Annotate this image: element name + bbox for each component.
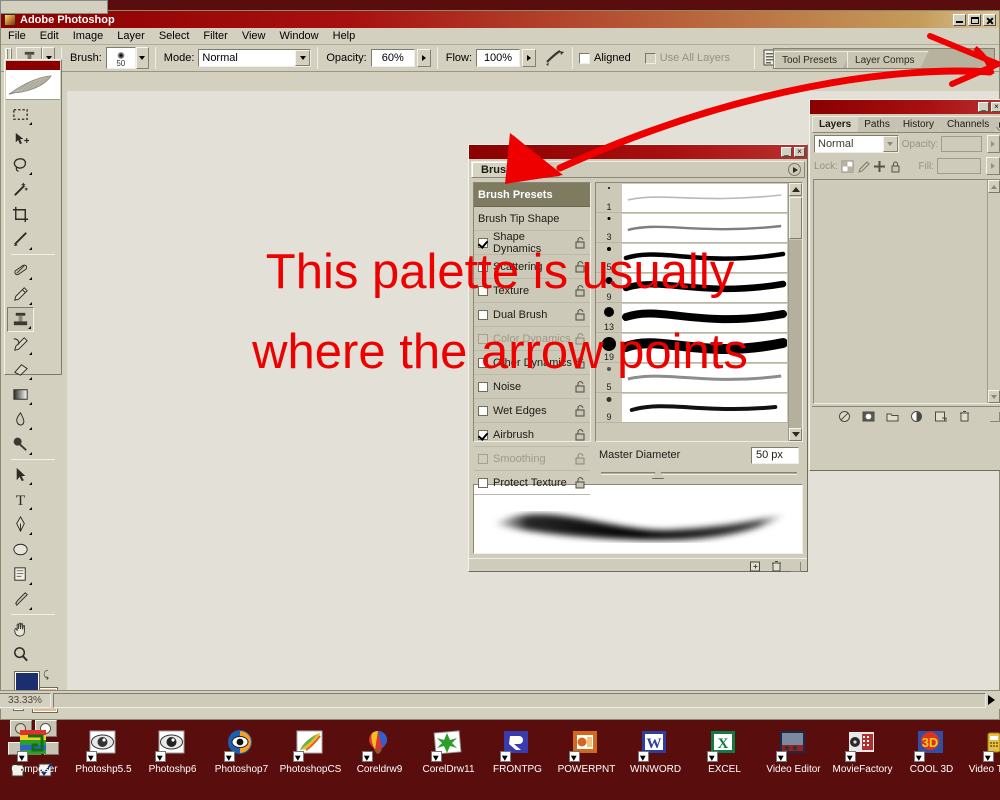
lock-open-icon[interactable]: [575, 261, 586, 273]
taskbar-label: MovieFactory: [832, 764, 892, 775]
master-diameter-slider[interactable]: [601, 468, 797, 480]
menu-view[interactable]: View: [235, 29, 273, 43]
brushes-tab-row: Brushes: [471, 161, 805, 178]
brushes-palette-window-controls: _ ×: [781, 147, 805, 157]
lock-closed-icon: [575, 453, 586, 465]
lock-position-icon[interactable]: [873, 160, 886, 173]
brush-stroke-preview: [622, 304, 787, 332]
chevron-down-icon: [295, 50, 310, 66]
cool3d-icon: 3D: [915, 728, 948, 761]
checkbox-icon[interactable]: [478, 406, 488, 416]
option-protect-texture[interactable]: Protect Texture: [474, 471, 590, 495]
delete-brush-icon[interactable]: [770, 560, 783, 573]
brushes-palette: _ × Brushes Brush Presets Brush Tip Shap…: [468, 144, 808, 572]
maximize-button[interactable]: [968, 14, 981, 26]
close-button[interactable]: [983, 14, 996, 26]
checkbox-icon: [478, 454, 488, 464]
delete-layer-icon[interactable]: [958, 410, 971, 423]
toolbox-tool-grid: T: [5, 100, 61, 667]
magic-wand-tool[interactable]: [7, 177, 34, 202]
opacity-label: Opacity:: [902, 139, 939, 150]
photoshop7-eye-icon: [225, 728, 258, 761]
layers-palette-window-controls: _ ×: [978, 102, 1000, 112]
brush-preset-row[interactable]: 5: [596, 363, 788, 393]
option-dual-brush[interactable]: Dual Brush: [474, 303, 590, 327]
notes-tool[interactable]: [7, 562, 34, 587]
option-color-dynamics: Color Dynamics: [474, 327, 590, 351]
composer-icon: [18, 728, 51, 761]
taskbar-label: COOL 3D: [910, 764, 954, 775]
photoshop-feather-logo-icon: [7, 72, 59, 98]
zoom-level-field[interactable]: 33.33%: [0, 693, 51, 708]
taskbar-item-powerpnt[interactable]: POWERPNT: [552, 728, 621, 775]
brush-size-label: 13: [596, 322, 622, 332]
new-brush-icon[interactable]: [749, 560, 762, 573]
layers-tab-row: Layers Paths History Channels: [812, 116, 1000, 133]
palette-menu-icon[interactable]: [788, 163, 801, 176]
brush-preset-rows: 1 3: [596, 183, 788, 441]
option-label: Noise: [493, 381, 521, 393]
checkbox-icon[interactable]: [478, 286, 488, 296]
crop-icon: [11, 205, 30, 224]
status-bar: 33.33%: [0, 690, 1000, 709]
brush-preset-row[interactable]: 13: [596, 303, 788, 333]
lock-open-icon[interactable]: [575, 285, 586, 297]
option-texture[interactable]: Texture: [474, 279, 590, 303]
toolbox-palette: T: [4, 59, 62, 375]
taskbar-item-cool3d[interactable]: 3D COOL 3D: [897, 728, 966, 775]
resize-grip[interactable]: [990, 412, 1000, 422]
layers-close-button[interactable]: ×: [991, 102, 1000, 112]
status-info-field: [53, 693, 986, 708]
layer-fill-slider-button: [986, 157, 1000, 175]
tab-channels[interactable]: Channels: [941, 117, 1000, 132]
slider-track: [601, 472, 797, 475]
flow-input[interactable]: 100%: [476, 49, 520, 67]
taskbar-label: Photoshp6: [149, 764, 197, 775]
new-group-icon[interactable]: [886, 410, 899, 423]
photoshop-logo-icon: [4, 14, 16, 26]
brush-size-label: 5: [596, 262, 622, 272]
video-editor-icon: [777, 728, 810, 761]
brush-label: Brush:: [70, 52, 102, 64]
taskbar-item-photoshop7[interactable]: Photoshop7: [207, 728, 276, 775]
taskbar-item-moviefactory[interactable]: MovieFactory: [828, 728, 897, 775]
brush-size-cell: 9: [596, 273, 622, 303]
scroll-down-arrow-icon[interactable]: [789, 428, 802, 441]
taskbar-label: Coreldrw9: [357, 764, 403, 775]
tab-paths[interactable]: Paths: [858, 117, 902, 132]
blur-waterdrop-icon: [11, 410, 30, 429]
option-scattering[interactable]: Scattering: [474, 255, 590, 279]
history-brush-icon: [11, 335, 30, 354]
option-smoothing: Smoothing: [474, 447, 590, 471]
checkbox-icon[interactable]: [478, 358, 488, 368]
palette-well[interactable]: Tool Presets Layer Comps: [773, 48, 995, 69]
toolbox-logo: [6, 70, 60, 100]
taskbar-items: Composer Photoshp5.5 Photoshp6: [0, 720, 1000, 800]
brush-stroke-preview: [622, 274, 787, 302]
blur-tool[interactable]: [7, 407, 34, 432]
tab-history[interactable]: History: [897, 117, 946, 132]
lock-open-icon[interactable]: [575, 405, 586, 417]
master-diameter-row: Master Diameter 50 px: [595, 446, 803, 464]
checkbox-icon[interactable]: [478, 430, 488, 440]
use-all-layers-check-box-icon: [645, 53, 656, 64]
shape-tool[interactable]: [7, 537, 34, 562]
moviefactory-icon: [846, 728, 879, 761]
window-titlebar: Adobe Photoshop: [1, 11, 999, 28]
dodge-tool[interactable]: [7, 432, 34, 457]
lock-all-icon[interactable]: [889, 160, 902, 173]
brush-stroke-preview: [622, 214, 787, 242]
slice-icon: [11, 230, 30, 249]
brush-preview-button[interactable]: 50: [106, 47, 136, 69]
brushes-palette-body: Brush Presets Brush Tip Shape Shape Dyna…: [469, 178, 807, 446]
brush-preset-row[interactable]: 1: [596, 183, 788, 213]
lasso-icon: [11, 155, 30, 174]
window-controls: [953, 14, 999, 26]
option-label: Texture: [493, 285, 529, 297]
flow-slider-button[interactable]: [522, 49, 536, 67]
brush-stroke-preview: [622, 334, 787, 362]
hand-icon: [11, 620, 30, 639]
menubar: File Edit Image Layer Select Filter View…: [1, 28, 999, 45]
taskbar-label: Video Editor: [766, 764, 820, 775]
brush-preset-row[interactable]: 9: [596, 273, 788, 303]
lock-open-icon[interactable]: [575, 429, 586, 441]
photoshop-main-window: Adobe Photoshop File Edit Image Layer Se…: [0, 10, 1000, 720]
taskbar-item-video-toolbox[interactable]: Video ToolBox: [966, 728, 1000, 775]
coreldraw11-icon: [432, 728, 465, 761]
brushes-palette-footer: [469, 558, 807, 574]
brushes-close-button[interactable]: ×: [794, 147, 805, 157]
gradient-icon: [11, 385, 30, 404]
move-tool[interactable]: [7, 127, 34, 152]
master-diameter-label: Master Diameter: [599, 449, 680, 461]
menu-file[interactable]: File: [1, 29, 33, 43]
taskbar-label: CorelDrw11: [422, 764, 474, 775]
slice-tool[interactable]: [7, 227, 34, 252]
checkbox-icon: [478, 334, 488, 344]
new-layer-icon[interactable]: [934, 410, 947, 423]
rectangular-marquee-icon: [11, 105, 30, 124]
brush-size-label: 9: [596, 292, 622, 302]
type-T-icon: T: [11, 490, 30, 509]
blend-mode-value: Normal: [202, 52, 237, 64]
svg-text:T: T: [16, 492, 26, 509]
option-label: Brush Tip Shape: [478, 213, 559, 225]
brush-stroke-preview: [622, 394, 787, 422]
checkbox-icon[interactable]: [478, 262, 488, 272]
status-expand-arrow-icon[interactable]: [988, 695, 995, 705]
adjustment-layer-icon[interactable]: [910, 410, 923, 423]
brush-preset-list[interactable]: 1 3: [595, 182, 803, 442]
menu-image[interactable]: Image: [66, 29, 111, 43]
checkbox-icon[interactable]: [478, 478, 488, 488]
blend-mode-row: Normal Opacity:: [810, 133, 1000, 155]
chevron-down-icon: [883, 136, 898, 152]
lock-image-icon[interactable]: [857, 160, 870, 173]
zoom-tool[interactable]: [7, 642, 34, 667]
option-label: Smoothing: [493, 453, 546, 465]
brush-picker-dropdown[interactable]: [136, 47, 149, 69]
taskbar-label: POWERPNT: [558, 764, 616, 775]
svg-text:W: W: [647, 736, 662, 752]
option-brush-tip-shape[interactable]: Brush Tip Shape: [474, 207, 590, 231]
taskbar-item-video-editor[interactable]: Video Editor: [759, 728, 828, 775]
scroll-down-arrow-icon[interactable]: [988, 390, 1000, 403]
powerpoint-icon: [570, 728, 603, 761]
layer-blend-mode-value: Normal: [818, 138, 853, 150]
opacity-label: Opacity:: [326, 52, 366, 64]
option-label: Airbrush: [493, 429, 534, 441]
path-selection-tool[interactable]: [7, 462, 34, 487]
checkbox-icon[interactable]: [478, 382, 488, 392]
taskbar-label: Composer: [11, 764, 57, 775]
paintbrush-icon: [11, 285, 30, 304]
zoom-level-value: 33.33%: [8, 695, 42, 706]
minimize-button[interactable]: [953, 14, 966, 26]
ellipse-shape-icon: [11, 540, 30, 559]
layers-palette-titlebar[interactable]: _ ×: [810, 100, 1000, 114]
option-label: Scattering: [493, 261, 543, 273]
menu-layer[interactable]: Layer: [110, 29, 152, 43]
layer-opacity-slider-button: [987, 135, 1000, 153]
brush-size-label: 5: [596, 382, 622, 392]
brush-size-cell: 9: [596, 393, 622, 423]
layers-palette-footer: [812, 406, 1000, 426]
toolbox-titlebar[interactable]: [6, 61, 60, 70]
option-label: Color Dynamics: [493, 333, 571, 345]
lock-open-icon[interactable]: [575, 309, 586, 321]
app-title: Adobe Photoshop: [20, 14, 115, 26]
word-icon: W: [639, 728, 672, 761]
dodge-icon: [11, 435, 30, 454]
tab-layers[interactable]: Layers: [813, 117, 863, 132]
swap-colors-icon[interactable]: ⤹: [43, 670, 49, 681]
brush-size-cell: 1: [596, 183, 622, 213]
brush-preset-row[interactable]: 19: [596, 333, 788, 363]
option-label: Wet Edges: [493, 405, 547, 417]
well-tab-tool-presets[interactable]: Tool Presets: [774, 51, 851, 68]
excel-icon: X: [708, 728, 741, 761]
svg-text:X: X: [718, 736, 729, 752]
brush-size-value: 50: [107, 60, 135, 68]
taskbar-label: Photoshop7: [215, 764, 268, 775]
brushes-palette-titlebar[interactable]: _ ×: [469, 145, 807, 159]
coreldraw9-balloon-icon: [363, 728, 396, 761]
lock-row: Lock: Fill:: [810, 155, 1000, 177]
menu-window[interactable]: Window: [273, 29, 326, 43]
lock-closed-icon: [575, 333, 586, 345]
brush-options-list: Brush Presets Brush Tip Shape Shape Dyna…: [473, 182, 591, 442]
brush-tool[interactable]: [7, 282, 34, 307]
scroll-up-arrow-icon[interactable]: [789, 183, 802, 196]
aligned-check-box-icon: [579, 53, 590, 64]
magic-wand-icon: [11, 180, 30, 199]
eyedropper-icon: [11, 590, 30, 609]
scrollbar-track[interactable]: [789, 240, 802, 428]
well-tab-layer-comps[interactable]: Layer Comps: [847, 51, 928, 68]
layer-mask-icon[interactable]: [862, 410, 875, 423]
taskbar-label: WINWORD: [630, 764, 681, 775]
checkbox-icon[interactable]: [478, 238, 488, 248]
brush-size-cell: 13: [596, 303, 622, 333]
brush-list-scrollbar[interactable]: [788, 183, 802, 441]
lock-open-icon[interactable]: [575, 477, 586, 489]
layer-blend-mode-select[interactable]: Normal: [814, 135, 899, 153]
lock-open-icon[interactable]: [575, 381, 586, 393]
taskbar-tray-strip: [0, 0, 108, 14]
layer-style-icon[interactable]: [838, 410, 851, 423]
taskbar-label: EXCEL: [708, 764, 741, 775]
magnifier-icon: [11, 645, 30, 664]
layers-list[interactable]: [813, 179, 1000, 404]
notes-icon: [11, 565, 30, 584]
layers-palette: _ × Layers Paths History Channels Normal…: [809, 99, 1000, 471]
slider-knob[interactable]: [652, 468, 664, 478]
option-wet-edges[interactable]: Wet Edges: [474, 399, 590, 423]
crop-tool[interactable]: [7, 202, 34, 227]
eraser-tool[interactable]: [7, 357, 34, 382]
video-toolbox-icon: [984, 728, 1000, 761]
brush-stroke-preview: [622, 184, 787, 212]
brush-size-label: 1: [596, 202, 622, 212]
tab-brushes[interactable]: Brushes: [472, 162, 536, 177]
brush-stroke-preview: [622, 244, 787, 272]
hand-tool[interactable]: [7, 617, 34, 642]
option-label: Dual Brush: [493, 309, 547, 321]
brush-preset-row[interactable]: 3: [596, 213, 788, 243]
master-diameter-input[interactable]: 50 px: [751, 447, 799, 464]
taskbar-item-photoshp6[interactable]: Photoshp6: [138, 728, 207, 775]
use-all-layers-label: Use All Layers: [660, 52, 730, 64]
lock-label: Lock:: [814, 161, 838, 172]
option-label: Other Dynamics: [493, 357, 572, 369]
brush-tip-dot-icon: [117, 52, 124, 59]
type-tool[interactable]: T: [7, 487, 34, 512]
photoshopcs-feather-icon: [294, 728, 327, 761]
taskbar-label: FRONTPG: [493, 764, 542, 775]
brush-size-cell: 5: [596, 363, 622, 393]
taskbar-item-photoshp55[interactable]: Photoshp5.5: [69, 728, 138, 775]
option-shape-dynamics[interactable]: Shape Dynamics: [474, 231, 590, 255]
opacity-input[interactable]: 60%: [371, 49, 415, 67]
aligned-checkbox[interactable]: Aligned: [579, 52, 631, 64]
mode-label: Mode:: [164, 52, 195, 64]
flow-label: Flow:: [446, 52, 472, 64]
taskbar-item-winword[interactable]: W WINWORD: [621, 728, 690, 775]
menu-edit[interactable]: Edit: [33, 29, 66, 43]
lock-transparency-icon[interactable]: [841, 160, 854, 173]
option-airbrush[interactable]: Airbrush: [474, 423, 590, 447]
taskbar-item-coreldrw9[interactable]: Coreldrw9: [345, 728, 414, 775]
clone-stamp-tool[interactable]: [7, 307, 34, 332]
svg-text:3D: 3D: [922, 735, 939, 750]
taskbar-item-excel[interactable]: X EXCEL: [690, 728, 759, 775]
lock-open-icon[interactable]: [575, 237, 586, 249]
layers-minimize-button[interactable]: _: [978, 102, 989, 112]
taskbar-item-photoshopcs[interactable]: PhotoshopCS: [276, 728, 345, 775]
option-other-dynamics[interactable]: Other Dynamics: [474, 351, 590, 375]
blend-mode-select[interactable]: Normal: [198, 49, 311, 67]
flow-value: 100%: [484, 52, 512, 64]
lock-open-icon[interactable]: [575, 357, 586, 369]
photoshop55-eye-icon: [87, 728, 120, 761]
eraser-icon: [11, 360, 30, 379]
menu-select[interactable]: Select: [152, 29, 197, 43]
fill-label: Fill:: [918, 161, 934, 172]
layers-scrollbar[interactable]: [987, 180, 1000, 403]
lasso-tool[interactable]: [7, 152, 34, 177]
brush-preset-row[interactable]: 9: [596, 393, 788, 423]
taskbar-item-frontpg[interactable]: FRONTPG: [483, 728, 552, 775]
history-brush-tool[interactable]: [7, 332, 34, 357]
checkbox-icon[interactable]: [478, 310, 488, 320]
healing-brush-icon: [11, 260, 30, 279]
pen-tool[interactable]: [7, 512, 34, 537]
taskbar-item-composer[interactable]: Composer: [0, 728, 69, 775]
taskbar-item-coreldrw11[interactable]: CorelDrw11: [414, 728, 483, 775]
use-all-layers-checkbox: Use All Layers: [645, 52, 730, 64]
resize-grip[interactable]: [791, 562, 801, 572]
option-label: Brush Presets: [478, 189, 553, 201]
master-diameter-value: 50 px: [756, 449, 783, 461]
path-selection-arrow-icon: [11, 465, 30, 484]
opacity-slider-button[interactable]: [417, 49, 431, 67]
layer-fill-input: [937, 158, 981, 174]
taskbar-label: Video ToolBox: [969, 764, 1000, 775]
marquee-tool[interactable]: [7, 102, 34, 127]
menu-help[interactable]: Help: [326, 29, 363, 43]
option-label: Protect Texture: [493, 477, 567, 489]
brush-preset-row[interactable]: 5: [596, 243, 788, 273]
gradient-tool[interactable]: [7, 382, 34, 407]
aligned-label: Aligned: [594, 52, 631, 64]
healing-brush-tool[interactable]: [7, 257, 34, 282]
option-noise[interactable]: Noise: [474, 375, 590, 399]
move-icon: [11, 130, 30, 149]
airbrush-icon[interactable]: [544, 48, 566, 68]
eyedropper-tool[interactable]: [7, 587, 34, 612]
photoshop6-eye-icon: [156, 728, 189, 761]
option-brush-presets[interactable]: Brush Presets: [474, 183, 590, 207]
taskbar-label: Photoshp5.5: [75, 764, 131, 775]
layer-opacity-input: [941, 136, 982, 152]
brush-size-label: 9: [596, 412, 622, 422]
brush-size-cell: 5: [596, 243, 622, 273]
taskbar-label: PhotoshopCS: [280, 764, 342, 775]
scroll-up-arrow-icon[interactable]: [988, 180, 1000, 193]
scrollbar-thumb[interactable]: [789, 197, 802, 239]
brush-size-label: 19: [596, 352, 622, 362]
tool-options-bar: Brush: 50 Mode: Normal Opacity: 60% Flow…: [1, 45, 999, 72]
brushes-minimize-button[interactable]: _: [781, 147, 792, 157]
frontpage-icon: [501, 728, 534, 761]
menu-filter[interactable]: Filter: [196, 29, 234, 43]
brush-size-cell: 19: [596, 333, 622, 363]
brush-stroke-preview: [622, 364, 787, 392]
brush-size-cell: 3: [596, 213, 622, 243]
opacity-value: 60%: [382, 52, 404, 64]
pen-icon: [11, 515, 30, 534]
brush-size-label: 3: [596, 232, 622, 242]
option-label: Shape Dynamics: [493, 231, 575, 255]
